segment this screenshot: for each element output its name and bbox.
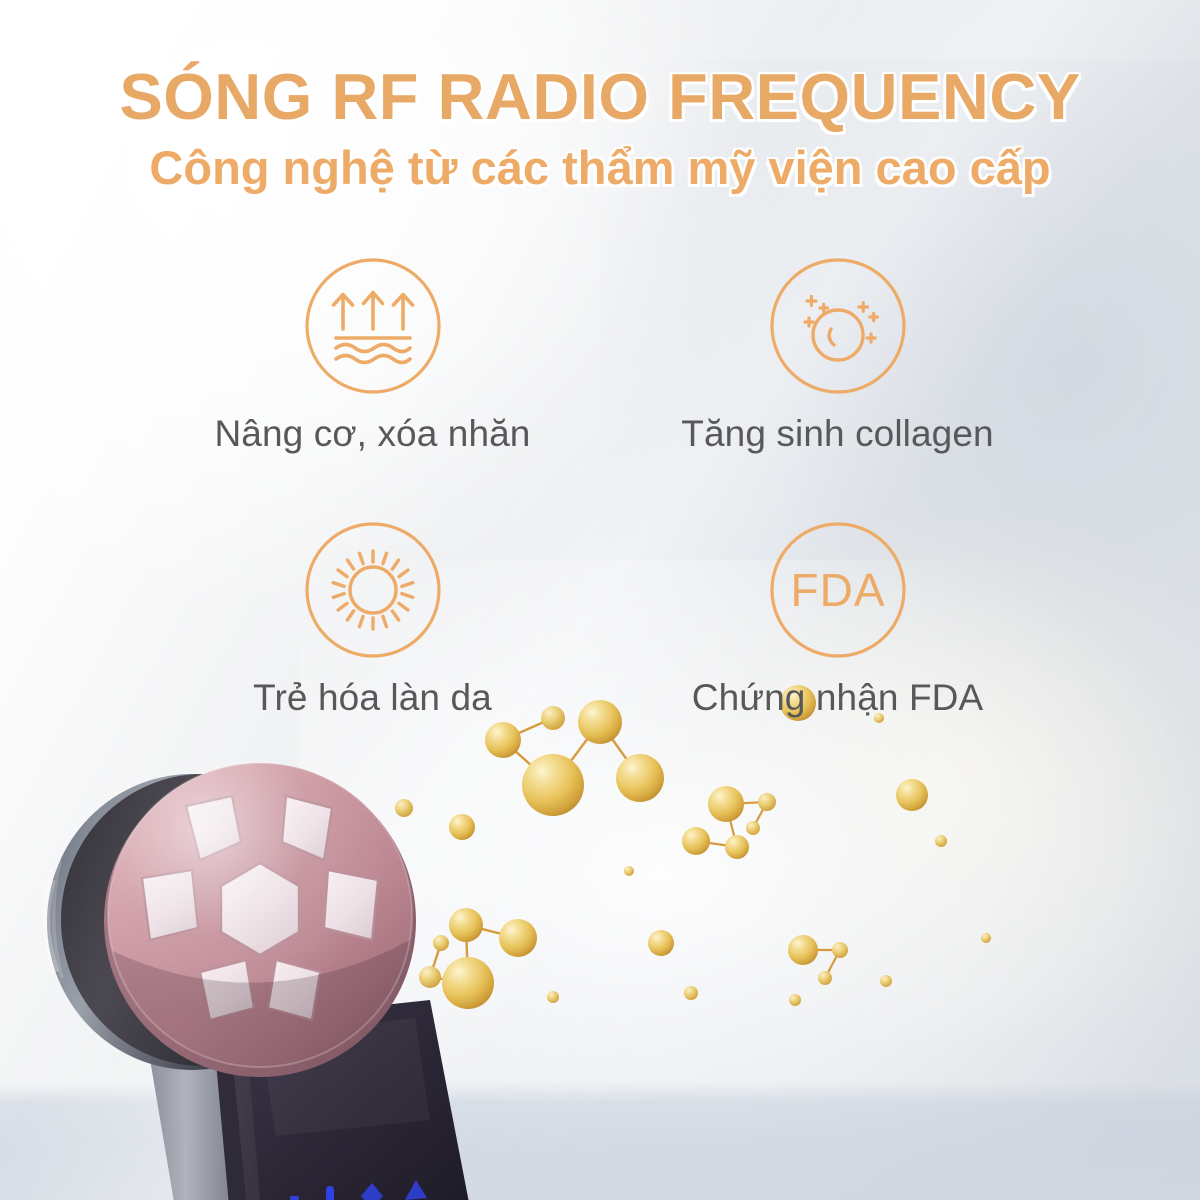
feature-grid: Nâng cơ, xóa nhăn Tăng sinh collagen: [140, 255, 1070, 719]
sun-radiance-icon: [302, 519, 444, 661]
page-title: SÓNG RF RADIO FREQUENCY: [0, 62, 1200, 132]
feature-item-fda[interactable]: FDA Chứng nhận FDA: [605, 519, 1070, 719]
feature-item-lifting[interactable]: Nâng cơ, xóa nhăn: [140, 255, 605, 455]
device-head: [104, 763, 416, 1077]
feature-label-lifting: Nâng cơ, xóa nhăn: [140, 413, 605, 455]
header-block: SÓNG RF RADIO FREQUENCY Công nghệ từ các…: [0, 62, 1200, 195]
feature-item-rejuvenation[interactable]: Trẻ hóa làn da: [140, 519, 605, 719]
banner-canvas: SÓNG RF RADIO FREQUENCY Công nghệ từ các…: [0, 0, 1200, 1200]
page-subtitle: Công nghệ từ các thẩm mỹ viện cao cấp: [0, 142, 1200, 195]
collagen-sparkle-icon: [767, 255, 909, 397]
fda-badge-icon: FDA: [767, 519, 909, 661]
feature-label-rejuvenation: Trẻ hóa làn da: [140, 677, 605, 719]
lifting-waves-icon: [302, 255, 444, 397]
rf-beauty-device: [0, 700, 580, 1200]
feature-label-fda: Chứng nhận FDA: [605, 677, 1070, 719]
feature-label-collagen: Tăng sinh collagen: [605, 413, 1070, 455]
feature-item-collagen[interactable]: Tăng sinh collagen: [605, 255, 1070, 455]
fda-badge-text: FDA: [790, 564, 885, 616]
